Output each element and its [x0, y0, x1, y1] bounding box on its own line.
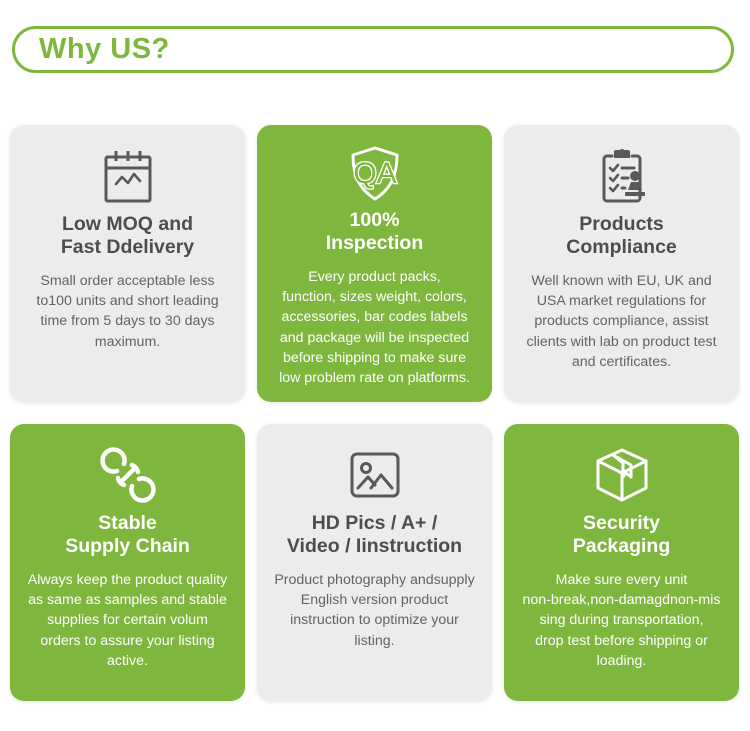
card-title: Stable Supply Chain — [65, 512, 190, 558]
card-body: Product photography andsupply English ve… — [274, 570, 474, 651]
why-us-section: Why US? Low MOQ and Fast Ddelivery Small… — [0, 0, 750, 731]
card-body: Small order acceptable less to100 units … — [36, 271, 218, 352]
clipboard-check-stamp-icon — [595, 145, 649, 207]
qa-shield-icon: QA — [347, 145, 403, 203]
card-title: Low MOQ and Fast Ddelivery — [61, 213, 194, 259]
card-body: Every product packs, function, sizes wei… — [279, 267, 470, 389]
card-body: Always keep the product quality as same … — [28, 570, 228, 671]
section-header-banner: Why US? — [12, 26, 734, 73]
feature-card-low-moq[interactable]: Low MOQ and Fast Ddelivery Small order a… — [10, 125, 245, 402]
feature-card-supply-chain[interactable]: Stable Supply Chain Always keep the prod… — [10, 424, 245, 701]
chain-link-icon — [100, 444, 156, 506]
feature-card-hd-pics[interactable]: HD Pics / A+ / Video / Iinstruction Prod… — [257, 424, 492, 701]
page-title: Why US? — [39, 35, 170, 64]
card-title: 100% Inspection — [326, 209, 424, 255]
image-photo-icon — [348, 444, 402, 506]
card-body: Well known with EU, UK and USA market re… — [526, 271, 716, 372]
feature-card-compliance[interactable]: Products Compliance Well known with EU, … — [504, 125, 739, 402]
clipboard-chart-icon — [101, 145, 155, 207]
feature-card-packaging[interactable]: Security Packaging Make sure every unit … — [504, 424, 739, 701]
svg-text:QA: QA — [353, 157, 396, 190]
card-title: Security Packaging — [573, 512, 671, 558]
feature-card-inspection[interactable]: QA 100% Inspection Every product packs, … — [257, 125, 492, 402]
card-title: Products Compliance — [566, 213, 677, 259]
card-title: HD Pics / A+ / Video / Iinstruction — [287, 512, 462, 558]
package-box-icon — [593, 444, 651, 506]
card-body: Make sure every unit non-break,non-damag… — [523, 570, 721, 671]
feature-card-grid: Low MOQ and Fast Ddelivery Small order a… — [10, 125, 740, 701]
